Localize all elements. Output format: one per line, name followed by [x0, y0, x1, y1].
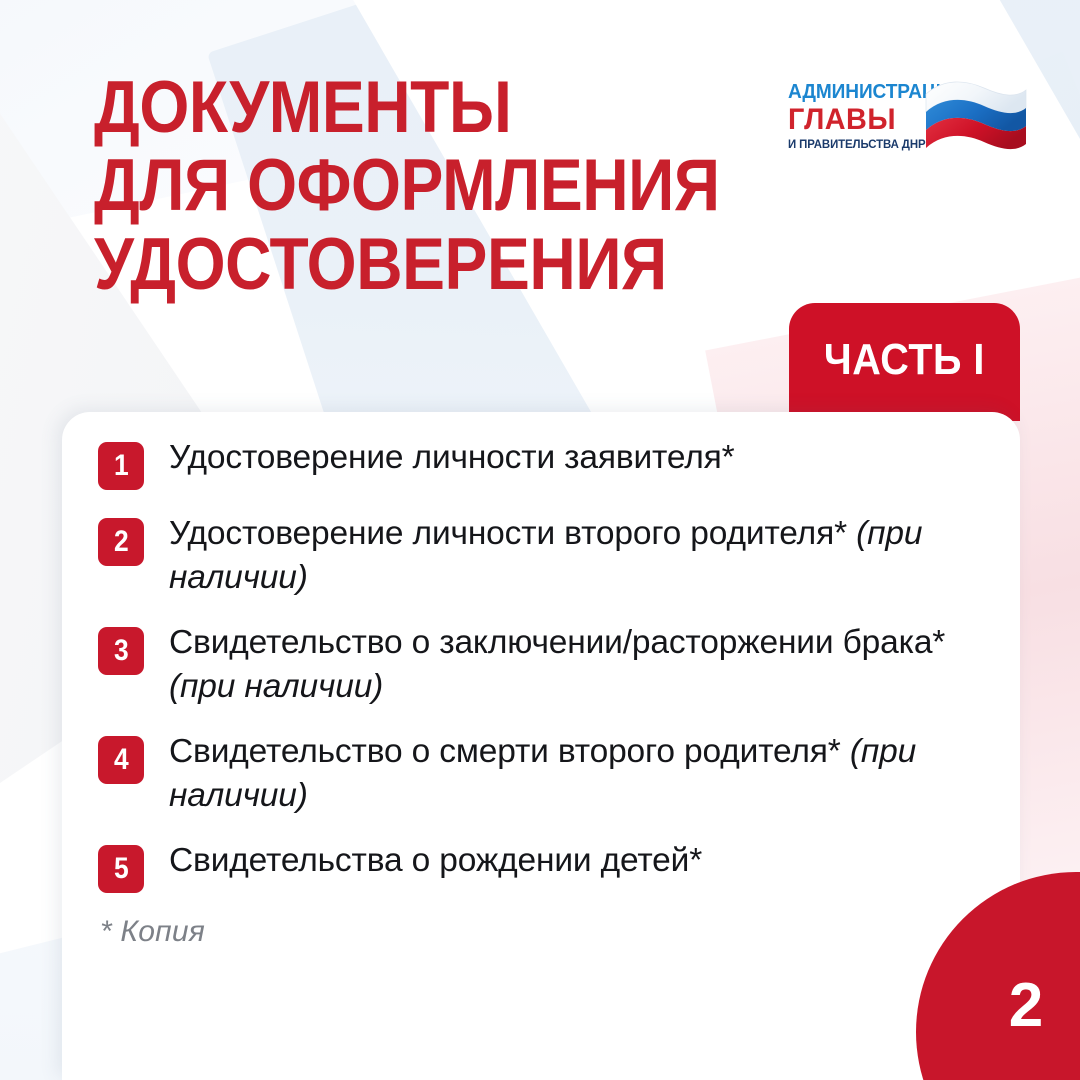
list-item-text: Свидетельство о смерти второго родителя*… [169, 730, 990, 817]
content-card: 1 Удостоверение личности заявителя* 2 Уд… [62, 412, 1020, 1080]
list-item-number-badge: 2 [98, 518, 144, 566]
page-title-line-2: ДЛЯ ОФОРМЛЕНИЯ [94, 150, 657, 222]
page-title: ДОКУМЕНТЫ ДЛЯ ОФОРМЛЕНИЯ УДОСТОВЕРЕНИЯ [94, 72, 734, 307]
organization-logo: АДМИНИСТРАЦИЯ ГЛАВЫ И ПРАВИТЕЛЬСТВА ДНР [788, 76, 1024, 172]
list-item-text-main: Свидетельство о заключении/расторжении б… [169, 624, 945, 661]
footnote: * Копия [100, 915, 990, 949]
part-badge: ЧАСТЬ I [789, 303, 1020, 421]
list-item-text: Свидетельство о заключении/расторжении б… [169, 621, 990, 708]
list-item-text-main: Свидетельства о рождении детей* [169, 842, 702, 879]
list-item: 5 Свидетельства о рождении детей* [98, 839, 990, 893]
russian-tricolor-wave-icon [922, 76, 1030, 173]
list-item-text-main: Свидетельство о смерти второго родителя* [169, 733, 841, 770]
list-item-text-main: Удостоверение личности заявителя* [169, 439, 735, 476]
page-title-line-3: УДОСТОВЕРЕНИЯ [94, 229, 657, 301]
page-title-line-1: ДОКУМЕНТЫ [94, 72, 657, 144]
list-item: 3 Свидетельство о заключении/расторжении… [98, 621, 990, 708]
poster-canvas: ДОКУМЕНТЫ ДЛЯ ОФОРМЛЕНИЯ УДОСТОВЕРЕНИЯ А… [0, 0, 1080, 1080]
list-item-number: 5 [114, 854, 129, 884]
list-item-number: 4 [114, 745, 129, 775]
list-item-text-main: Удостоверение личности второго родителя* [169, 515, 847, 552]
list-item-number: 3 [114, 636, 129, 666]
list-item-text: Свидетельства о рождении детей* [169, 839, 702, 883]
list-item-number-badge: 4 [98, 736, 144, 784]
page-number: 2 [996, 975, 1056, 1037]
list-item-text: Удостоверение личности второго родителя*… [169, 512, 990, 599]
list-item-text-note: (при наличии) [169, 668, 383, 705]
list-item-number: 2 [114, 527, 129, 557]
documents-list: 1 Удостоверение личности заявителя* 2 Уд… [98, 436, 990, 949]
list-item: 2 Удостоверение личности второго родител… [98, 512, 990, 599]
list-item-number-badge: 3 [98, 627, 144, 675]
list-item: 4 Свидетельство о смерти второго родител… [98, 730, 990, 817]
list-item-text: Удостоверение личности заявителя* [169, 436, 735, 480]
list-item-number: 1 [114, 451, 129, 481]
list-item-number-badge: 1 [98, 442, 144, 490]
list-item: 1 Удостоверение личности заявителя* [98, 436, 990, 490]
list-item-number-badge: 5 [98, 845, 144, 893]
part-badge-label: ЧАСТЬ I [824, 335, 985, 385]
